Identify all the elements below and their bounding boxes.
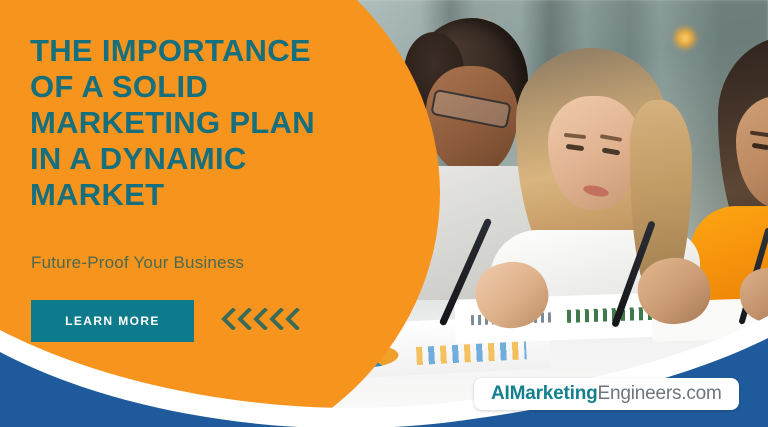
marketing-banner: THE IMPORTANCE OF A SOLID MARKETING PLAN…	[0, 0, 768, 427]
logo-brand-primary: AIMarketing	[491, 383, 598, 404]
chevron-left-icon	[253, 308, 268, 330]
chevron-group	[221, 308, 300, 330]
logo-brand-secondary: Engineers.com	[598, 383, 722, 404]
chevron-left-icon	[285, 308, 300, 330]
banner-content: THE IMPORTANCE OF A SOLID MARKETING PLAN…	[0, 0, 380, 427]
chevron-left-icon	[221, 308, 236, 330]
learn-more-button[interactable]: LEARN MORE	[31, 300, 194, 342]
logo-text: AIMarketingEngineers.com	[491, 383, 722, 405]
subheadline: Future-Proof Your Business	[31, 253, 244, 273]
page-title: THE IMPORTANCE OF A SOLID MARKETING PLAN…	[30, 33, 360, 213]
site-logo[interactable]: AIMarketingEngineers.com	[474, 378, 739, 410]
chevron-left-icon	[269, 308, 284, 330]
chevron-left-icon	[237, 308, 252, 330]
